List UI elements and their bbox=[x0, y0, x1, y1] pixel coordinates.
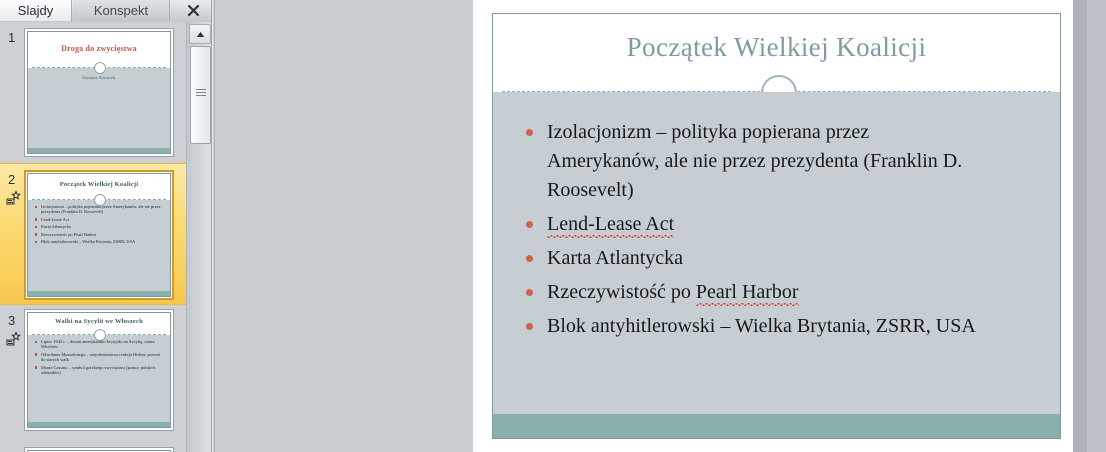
scrollbar-grip-icon bbox=[196, 89, 206, 98]
thumbnail-slide-4[interactable]: 4 Wielka Trójka - konferencje bbox=[0, 439, 186, 452]
slide-1-canvas: Droga do zwycięstwa Szymon Kwiatek bbox=[27, 31, 171, 154]
close-panel-button[interactable] bbox=[176, 0, 210, 21]
scroll-up-button[interactable] bbox=[189, 24, 211, 44]
slide-number-1: 1 bbox=[8, 30, 15, 45]
bullet-text: Rzeczywistość po bbox=[547, 281, 696, 303]
animation-star-icon bbox=[5, 331, 21, 347]
slide-2-canvas: Początek Wielkiej Koalicji Izolacjonizm … bbox=[27, 173, 171, 297]
slide-2-preview[interactable]: Początek Wielkiej Koalicji Izolacjonizm … bbox=[24, 170, 174, 300]
slide-bullet-list[interactable]: Izolacjonizm – polityka popierana przez … bbox=[521, 118, 1038, 346]
slide-1-footer-band bbox=[28, 148, 170, 153]
slide-2-footer-band bbox=[28, 291, 170, 296]
thumbnail-scrollbar[interactable] bbox=[186, 22, 212, 452]
slide-editing-stage[interactable]: Początek Wielkiej Koalicji Izolacjonizm … bbox=[473, 0, 1073, 452]
thumbnail-slide-1[interactable]: 1 Droga do zwycięstwa Szymon Kwiatek bbox=[0, 22, 186, 163]
slide-2-bullet: Izolacjonizm – polityka popierana przez … bbox=[35, 204, 164, 215]
stage-right-border bbox=[1073, 0, 1087, 452]
slide-2-bullet: Karta Atlantycka bbox=[35, 224, 164, 229]
slide-1-preview[interactable]: Droga do zwycięstwa Szymon Kwiatek bbox=[24, 28, 174, 157]
scrollbar-thumb[interactable] bbox=[190, 46, 211, 144]
slide-3-footer-band bbox=[28, 422, 170, 427]
slide-3-bullet: Odwołanie Mussoliniego – natychmiastowa … bbox=[35, 352, 164, 363]
slide-3-bullet-list: Lipiec 1943 r. – desant amerykańsko-bryt… bbox=[35, 339, 164, 377]
slide-4-preview[interactable]: Wielka Trójka - konferencje bbox=[24, 447, 174, 452]
bullet-line: Izolacjonizm – polityka popierana przez bbox=[547, 118, 1038, 147]
slide-1-decor-circle-icon bbox=[94, 62, 106, 74]
slide-1-subtitle: Szymon Kwiatek bbox=[34, 75, 164, 80]
bullet-text: Blok antyhitlerowski – Wielka Brytania, … bbox=[547, 315, 976, 337]
current-slide-canvas[interactable]: Początek Wielkiej Koalicji Izolacjonizm … bbox=[492, 13, 1061, 439]
slide-thumbnail-list[interactable]: 1 Droga do zwycięstwa Szymon Kwiatek 2 bbox=[0, 22, 186, 452]
bullet-item[interactable]: Izolacjonizm – polityka popierana przez … bbox=[521, 118, 1038, 205]
slide-2-bullet: Blok antyhitlerowski – Wielka Brytania, … bbox=[35, 239, 164, 244]
bullet-line: Roosevelt) bbox=[547, 176, 1038, 205]
chevron-up-icon bbox=[196, 31, 205, 38]
bullet-text: Karta Atlantycka bbox=[547, 247, 683, 269]
bullet-item[interactable]: Blok antyhitlerowski – Wielka Brytania, … bbox=[521, 312, 1038, 341]
slide-1-body-band bbox=[28, 68, 170, 148]
tab-slajdy[interactable]: Slajdy bbox=[0, 0, 72, 21]
slide-2-bullet: Lend-Lease Act bbox=[35, 217, 164, 222]
bullet-item[interactable]: Karta Atlantycka bbox=[521, 244, 1038, 273]
workspace-background bbox=[215, 0, 473, 452]
slide-3-title: Walki na Sycylii we Włoszech bbox=[34, 318, 164, 325]
animation-star-icon bbox=[5, 190, 21, 206]
panel-tabstrip: Slajdy Konspekt bbox=[0, 0, 211, 23]
slide-3-bullet: Lipiec 1943 r. – desant amerykańsko-bryt… bbox=[35, 339, 164, 350]
misspelled-text: Pearl Harbor bbox=[696, 281, 799, 306]
thumbnail-slide-3[interactable]: 3 Walki na Sycylii we Włoszech bbox=[0, 305, 186, 439]
slides-outline-panel: Slajdy Konspekt 1 Dr bbox=[0, 0, 211, 452]
slide-1-title: Droga do zwycięstwa bbox=[34, 44, 164, 53]
slide-2-title: Początek Wielkiej Koalicji bbox=[34, 181, 164, 188]
slide-title-text[interactable]: Początek Wielkiej Koalicji bbox=[493, 32, 1060, 63]
slide-content-band: Izolacjonizm – polityka popierana przez … bbox=[493, 92, 1060, 414]
close-icon bbox=[187, 4, 200, 17]
powerpoint-editor-window: Slajdy Konspekt 1 Dr bbox=[0, 0, 1106, 452]
slide-3-canvas: Walki na Sycylii we Włoszech Lipiec 1943… bbox=[27, 312, 171, 428]
misspelled-text: Lend-Lease Act bbox=[547, 213, 674, 238]
slide-number-3: 3 bbox=[8, 313, 15, 328]
bullet-item[interactable]: Lend-Lease Act bbox=[521, 210, 1038, 239]
slide-3-preview[interactable]: Walki na Sycylii we Włoszech Lipiec 1943… bbox=[24, 309, 174, 431]
tab-konspekt[interactable]: Konspekt bbox=[73, 0, 170, 21]
slide-2-bullet: Rzeczywistość po Pearl Harbor bbox=[35, 232, 164, 237]
bullet-line: Amerykanów, ale nie przez prezydenta (Fr… bbox=[547, 147, 1038, 176]
slide-2-bullet-list: Izolacjonizm – polityka popierana przez … bbox=[35, 204, 164, 246]
slide-number-2: 2 bbox=[8, 172, 15, 187]
slide-3-bullet: Monte Cassino – symbol gorzkiego zwycięs… bbox=[35, 365, 164, 376]
slide-footer-band bbox=[493, 414, 1060, 438]
thumbnail-slide-2[interactable]: 2 Początek Wielkiej Koalicji bbox=[0, 163, 186, 305]
bullet-item[interactable]: Rzeczywistość po Pearl Harbor bbox=[521, 278, 1038, 307]
